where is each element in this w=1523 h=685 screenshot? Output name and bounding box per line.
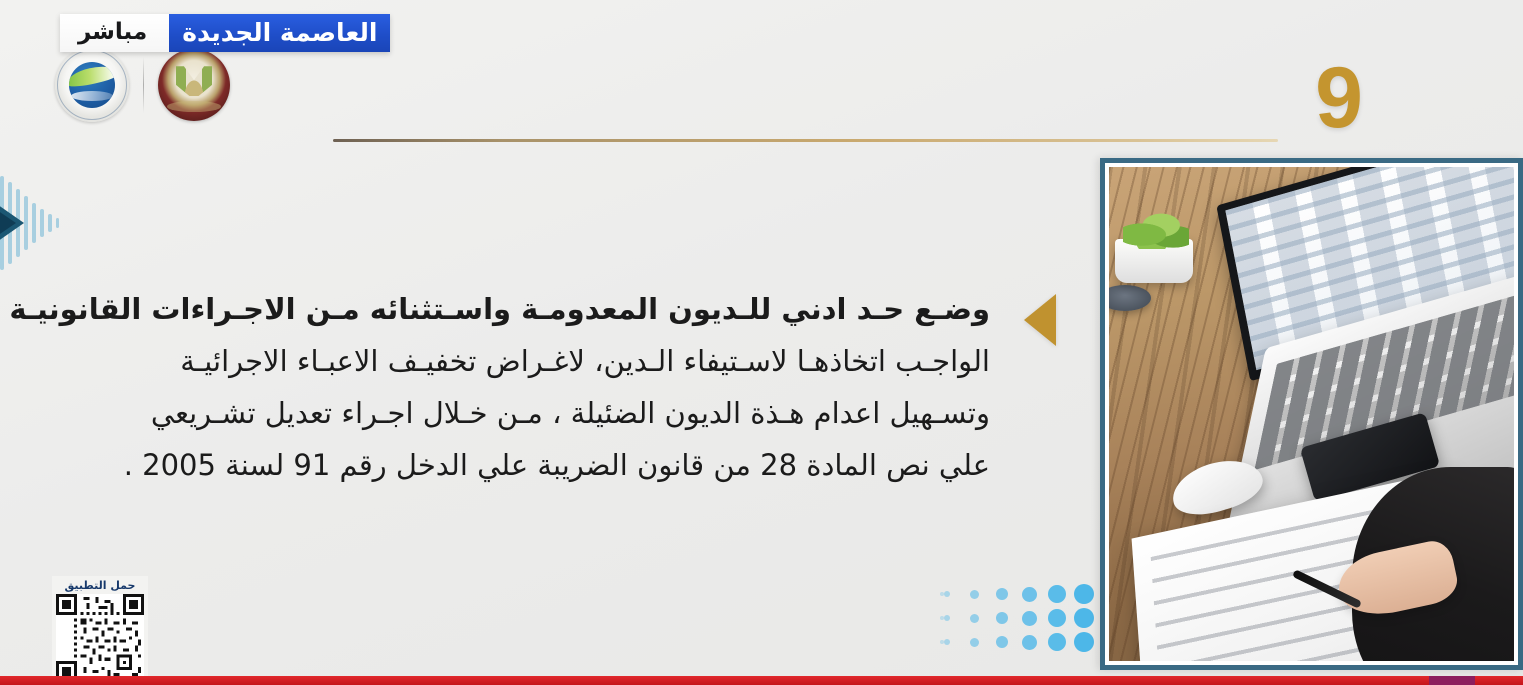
dot-grid-row — [940, 582, 1100, 606]
body-line-4: علي نص المادة 28 من قانون الضريبة علي ال… — [110, 439, 990, 491]
slide-body-text: وضـع حـد ادني للـديون المعدومـة واسـتثنا… — [110, 283, 990, 491]
egypt-national-emblem-icon — [158, 49, 230, 121]
bottom-bar-accent — [1429, 676, 1475, 685]
slide-number: 9 — [1315, 55, 1363, 141]
dot-grid-row — [940, 630, 1100, 654]
logo-row — [55, 48, 230, 122]
dot-grid-decoration — [940, 582, 1100, 654]
broadcast-slide: العاصمة الجديدة مباشر 9 وضـع حـد ادني لل… — [0, 0, 1523, 685]
app-download-promo[interactable]: حمل التطبيق — [52, 576, 148, 685]
body-line-3: وتسـهيل اعدام هـذة الديون الضئيلة ، مـن … — [110, 387, 990, 439]
body-line-1: وضـع حـد ادني للـديون المعدومـة واسـتثنا… — [110, 283, 990, 335]
channel-banner: العاصمة الجديدة مباشر — [60, 14, 390, 52]
desk-workspace-photo — [1109, 167, 1514, 661]
bullet-triangle-icon — [1024, 294, 1056, 346]
sound-wave-icon — [0, 168, 72, 278]
photo-panel — [1100, 158, 1523, 670]
logo-divider — [143, 57, 144, 113]
egyptian-tax-authority-icon — [55, 48, 129, 122]
gold-divider — [333, 139, 1278, 142]
bottom-red-bar — [0, 676, 1523, 685]
network-name-label: العاصمة الجديدة — [169, 14, 390, 52]
app-download-label: حمل التطبيق — [56, 579, 144, 592]
live-badge: مباشر — [60, 14, 169, 52]
qr-code[interactable] — [56, 594, 144, 682]
body-line-2: الواجـب اتخاذهـا لاسـتيفاء الـدين، لاغـر… — [110, 335, 990, 387]
dot-grid-row — [940, 606, 1100, 630]
